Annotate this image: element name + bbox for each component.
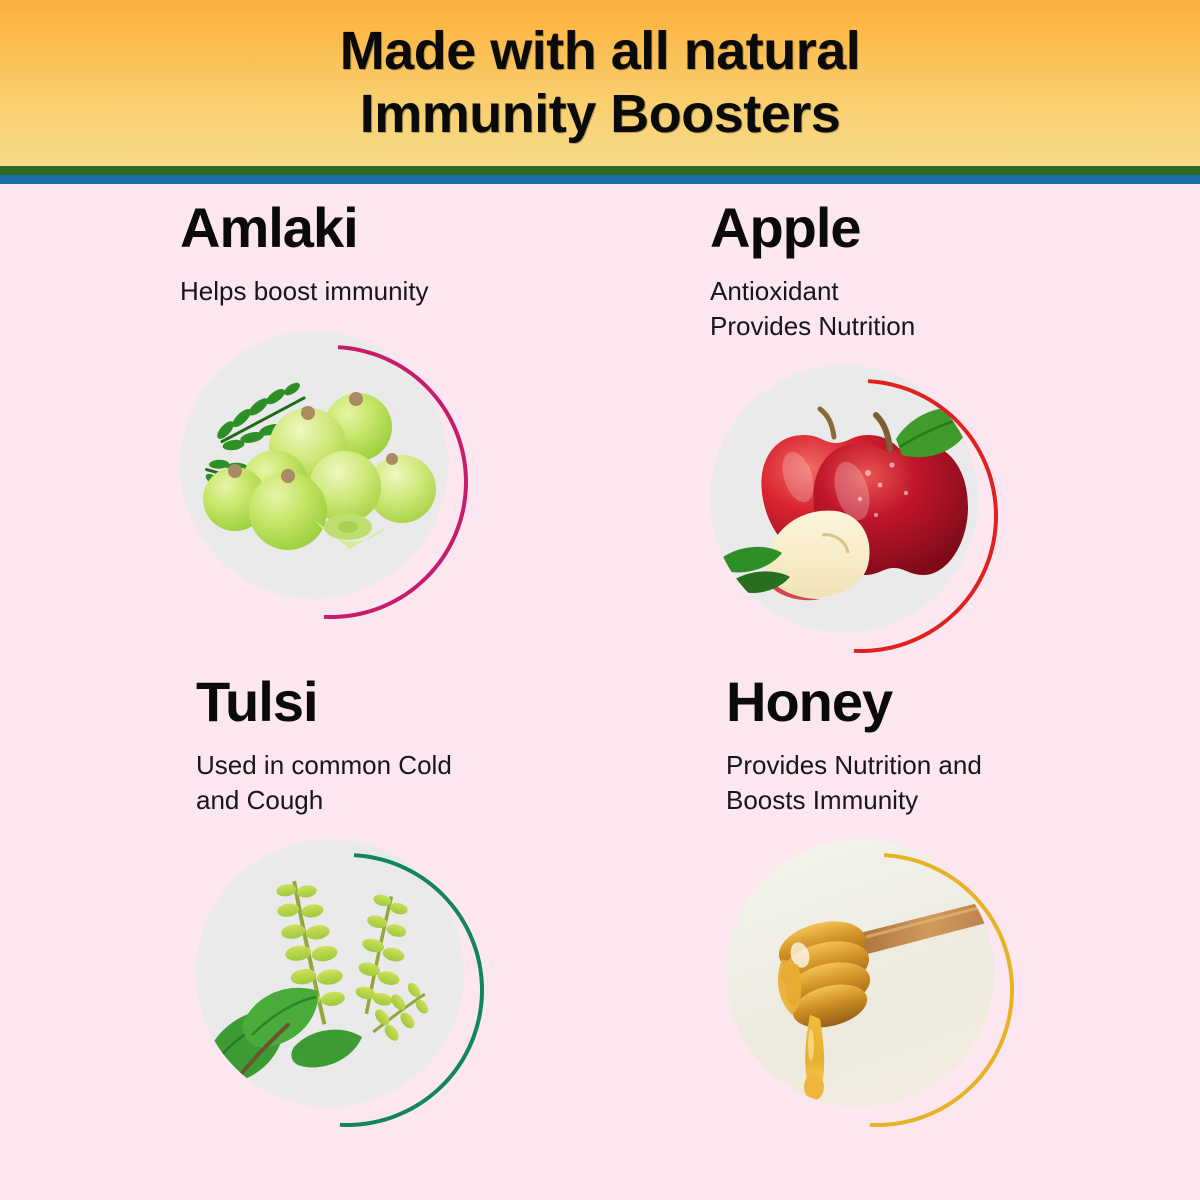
divider-stripe-green — [0, 166, 1200, 175]
header-title-line-2: Immunity Boosters — [360, 83, 841, 146]
ingredient-card-amlaki: Amlaki Helps boost immunity — [180, 200, 700, 631]
ingredient-card-apple: Apple Antioxidant Provides Nutrition — [710, 200, 1200, 665]
ingredient-media-tulsi — [196, 839, 496, 1139]
ingredient-title: Honey — [726, 674, 1200, 730]
header-banner: Made with all natural Immunity Boosters — [0, 0, 1200, 166]
ingredient-card-tulsi: Tulsi Used in common Cold and Cough — [196, 674, 716, 1139]
ingredient-title: Amlaki — [180, 200, 700, 256]
ingredient-description-line: and Cough — [196, 783, 716, 818]
ingredient-description-line: Provides Nutrition — [710, 309, 1200, 344]
ingredient-title: Tulsi — [196, 674, 716, 730]
ingredient-description: Antioxidant Provides Nutrition — [710, 274, 1200, 343]
ingredient-media-honey — [726, 839, 1026, 1139]
ingredient-media-apple — [710, 365, 1010, 665]
ingredient-description-line: Boosts Immunity — [726, 783, 1200, 818]
ingredient-description-line: Provides Nutrition and — [726, 748, 1200, 783]
ingredient-description-line: Antioxidant — [710, 274, 1200, 309]
header-title-line-1: Made with all natural — [340, 20, 861, 83]
ingredient-description-line: Helps boost immunity — [180, 274, 700, 309]
ingredient-description: Provides Nutrition and Boosts Immunity — [726, 748, 1200, 817]
ingredient-infographic-poster: Made with all natural Immunity Boosters … — [0, 0, 1200, 1200]
ingredient-media-amlaki — [180, 331, 480, 631]
ingredient-description: Helps boost immunity — [180, 274, 700, 309]
ingredient-card-honey: Honey Provides Nutrition and Boosts Immu… — [726, 674, 1200, 1139]
ingredient-grid: Amlaki Helps boost immunity — [0, 184, 1200, 1200]
divider-stripe-blue — [0, 175, 1200, 184]
ingredient-description: Used in common Cold and Cough — [196, 748, 716, 817]
ingredient-description-line: Used in common Cold — [196, 748, 716, 783]
ingredient-title: Apple — [710, 200, 1200, 256]
